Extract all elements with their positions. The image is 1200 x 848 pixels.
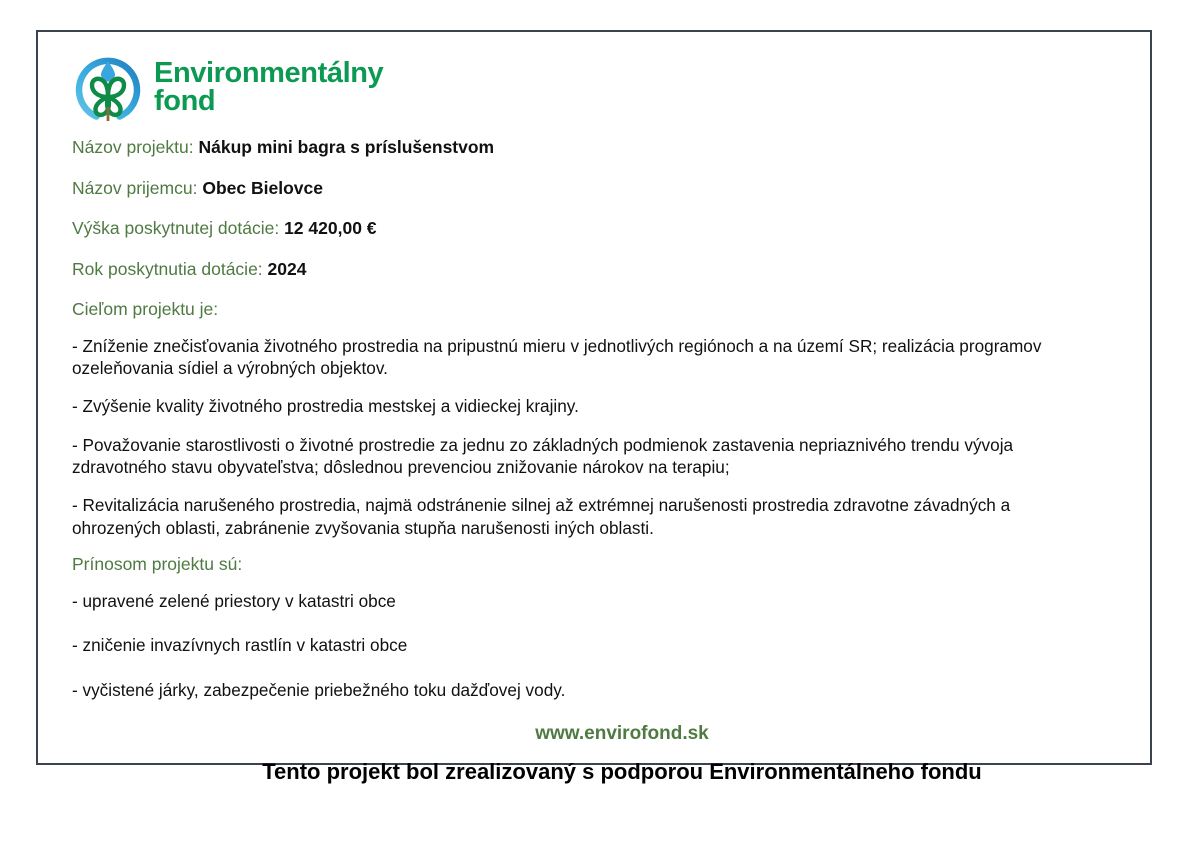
field-grant-amount: Výška poskytnutej dotácie: 12 420,00 € <box>72 217 1128 241</box>
logo-line-1: Environmentálny <box>154 59 383 87</box>
benefit-item: - zničenie invazívnych rastlín v katastr… <box>72 634 1128 656</box>
benefit-item: - upravené zelené priestory v katastri o… <box>72 590 1128 612</box>
goals-heading: Cieľom projektu je: <box>72 299 1128 320</box>
document-page: Environmentálny fond Názov projektu: Nák… <box>36 30 1152 765</box>
field-label: Názov projektu: <box>72 137 194 157</box>
field-value: 2024 <box>268 259 307 279</box>
goal-item: - Revitalizácia narušeného prostredia, n… <box>72 494 1090 539</box>
goal-item: - Zvýšenie kvality životného prostredia … <box>72 395 1090 417</box>
website-link[interactable]: www.envirofond.sk <box>72 723 1128 745</box>
field-label: Názov prijemcu: <box>72 178 197 198</box>
field-recipient-name: Názov prijemcu: Obec Bielovce <box>72 177 1128 201</box>
field-label: Výška poskytnutej dotácie: <box>72 218 279 238</box>
logo-wordmark: Environmentálny fond <box>154 59 383 116</box>
benefits-heading: Prínosom projektu sú: <box>72 554 1128 575</box>
field-project-name: Názov projektu: Nákup mini bagra s prísl… <box>72 136 1128 160</box>
field-value: Obec Bielovce <box>202 178 323 198</box>
logo-line-2: fond <box>154 87 383 115</box>
goal-item: - Zníženie znečisťovania životného prost… <box>72 335 1090 380</box>
field-grant-year: Rok poskytnutia dotácie: 2024 <box>72 258 1128 282</box>
environmental-fund-logo-icon <box>72 51 144 123</box>
field-label: Rok poskytnutia dotácie: <box>72 259 263 279</box>
field-value: Nákup mini bagra s príslušenstvom <box>198 137 494 157</box>
funding-tagline: Tento projekt bol zrealizovaný s podporo… <box>72 759 1128 785</box>
goal-item: - Považovanie starostlivosti o životné p… <box>72 434 1090 479</box>
field-value: 12 420,00 € <box>284 218 376 238</box>
benefit-item: - vyčistené járky, zabezpečenie priebežn… <box>72 679 1128 701</box>
logo-block: Environmentálny fond <box>72 46 1128 128</box>
document-content: Environmentálny fond Názov projektu: Nák… <box>72 46 1128 785</box>
